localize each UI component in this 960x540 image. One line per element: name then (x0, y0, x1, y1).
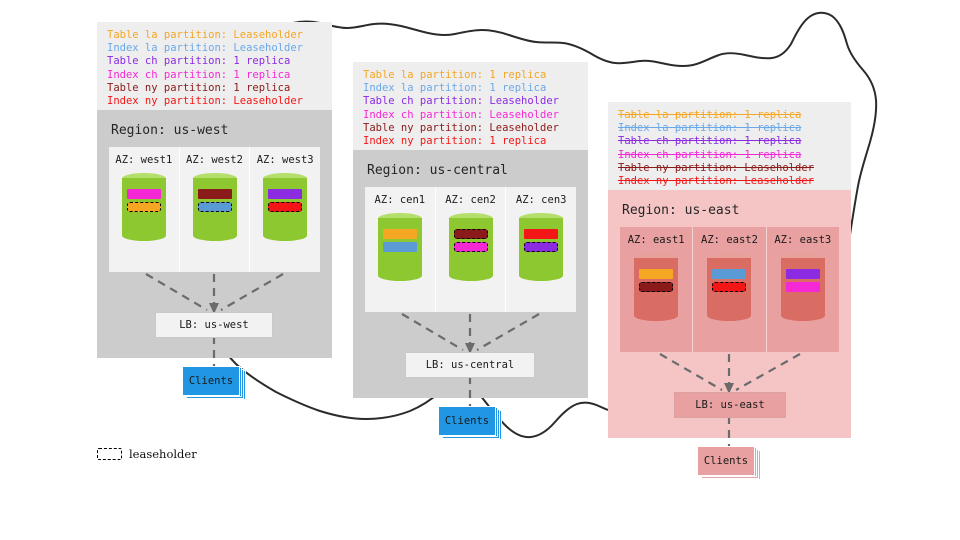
az-cell-west2[interactable]: AZ: west2 (179, 147, 250, 272)
replica-bars (524, 229, 558, 255)
info-line: Table ch partition: Leaseholder (363, 95, 578, 108)
info-line: Index la partition: 1 replica (363, 82, 578, 95)
az-cell-east2[interactable]: AZ: east2 (692, 227, 765, 352)
info-line: Index ch partition: Leaseholder (363, 109, 578, 122)
region-title: Region: us-west (97, 110, 332, 147)
legend: leaseholder (97, 447, 197, 461)
az-label: AZ: cen1 (375, 194, 426, 206)
replica-bar-leaseholder (454, 242, 488, 252)
az-row-us-west: AZ: west1 AZ: west2 (109, 147, 320, 272)
replica-bar (383, 242, 417, 252)
db-node-east2[interactable] (707, 253, 751, 321)
info-line: Table la partition: 1 replica (618, 109, 841, 122)
info-line: Index la partition: 1 replica (618, 122, 841, 135)
diagram-canvas: Table la partition: Leaseholder Index la… (0, 0, 960, 540)
dashed-rect-icon (97, 448, 122, 460)
lb-label: LB: us-central (426, 359, 515, 371)
info-line: Table ny partition: Leaseholder (363, 122, 578, 135)
info-line: Index ny partition: 1 replica (363, 135, 578, 148)
az-label: AZ: west3 (257, 154, 314, 166)
db-node-west2[interactable] (193, 173, 237, 241)
clients-us-west[interactable]: Clients (182, 366, 246, 400)
replica-bars (383, 229, 417, 255)
region-block-us-west: Table la partition: Leaseholder Index la… (97, 22, 332, 358)
replica-bar-leaseholder (712, 282, 746, 292)
replica-bar (712, 269, 746, 279)
info-line: Table ch partition: 1 replica (618, 135, 841, 148)
partition-info-panel-us-east: Table la partition: 1 replica Index la p… (608, 102, 851, 190)
clients-label-box: Clients (182, 366, 240, 396)
info-line: Index ch partition: 1 replica (107, 69, 322, 82)
az-cell-east3[interactable]: AZ: east3 (766, 227, 839, 352)
replica-bar-leaseholder (268, 202, 302, 212)
replica-bars (786, 269, 820, 295)
region-block-us-central: Table la partition: 1 replica Index la p… (353, 62, 588, 398)
db-node-cen3[interactable] (519, 213, 563, 281)
az-cell-west1[interactable]: AZ: west1 (109, 147, 179, 272)
db-node-east1[interactable] (634, 253, 678, 321)
replica-bar (786, 269, 820, 279)
az-cell-cen3[interactable]: AZ: cen3 (505, 187, 576, 312)
legend-label: leaseholder (129, 447, 197, 461)
az-label: AZ: cen2 (445, 194, 496, 206)
replica-bar-leaseholder (454, 229, 488, 239)
replica-bar (786, 282, 820, 292)
az-cell-west3[interactable]: AZ: west3 (249, 147, 320, 272)
info-line: Index la partition: Leaseholder (107, 42, 322, 55)
region-block-us-east: Table la partition: 1 replica Index la p… (608, 102, 851, 438)
load-balancer-us-east[interactable]: LB: us-east (674, 392, 786, 418)
region-title: Region: us-east (608, 190, 851, 227)
info-line: Index ny partition: Leaseholder (107, 95, 322, 108)
replica-bar (127, 189, 161, 199)
az-label: AZ: east3 (774, 234, 831, 246)
clients-label: Clients (189, 375, 233, 387)
az-label: AZ: cen3 (516, 194, 567, 206)
info-line: Table ny partition: 1 replica (107, 82, 322, 95)
region-panel-us-west: Region: us-west AZ: west1 (97, 110, 332, 358)
replica-bar-leaseholder (198, 202, 232, 212)
partition-info-panel-us-west: Table la partition: Leaseholder Index la… (97, 22, 332, 110)
replica-bar-leaseholder (127, 202, 161, 212)
db-node-cen2[interactable] (449, 213, 493, 281)
replica-bars (639, 269, 673, 295)
info-line: Table la partition: Leaseholder (107, 29, 322, 42)
replica-bars (454, 229, 488, 255)
load-balancer-us-west[interactable]: LB: us-west (155, 312, 273, 338)
info-line: Table ch partition: 1 replica (107, 55, 322, 68)
replica-bars (198, 189, 232, 215)
replica-bar (639, 269, 673, 279)
region-panel-us-central: Region: us-central AZ: cen1 (353, 150, 588, 398)
replica-bars (268, 189, 302, 215)
az-label: AZ: west2 (186, 154, 243, 166)
db-node-east3[interactable] (781, 253, 825, 321)
info-line: Index ny partition: Leaseholder (618, 175, 841, 188)
clients-us-east[interactable]: Clients (697, 446, 761, 480)
info-line: Table ny partition: Leaseholder (618, 162, 841, 175)
replica-bar (383, 229, 417, 239)
az-cell-cen2[interactable]: AZ: cen2 (435, 187, 506, 312)
load-balancer-us-central[interactable]: LB: us-central (405, 352, 535, 378)
replica-bars (712, 269, 746, 295)
az-cell-cen1[interactable]: AZ: cen1 (365, 187, 435, 312)
az-label: AZ: east1 (628, 234, 685, 246)
db-node-cen1[interactable] (378, 213, 422, 281)
clients-label: Clients (445, 415, 489, 427)
clients-us-central[interactable]: Clients (438, 406, 502, 440)
clients-label-box: Clients (438, 406, 496, 436)
replica-bar (268, 189, 302, 199)
az-row-us-central: AZ: cen1 AZ: cen2 (365, 187, 576, 312)
clients-label-box: Clients (697, 446, 755, 476)
replica-bar (524, 229, 558, 239)
replica-bar-leaseholder (639, 282, 673, 292)
az-label: AZ: west1 (115, 154, 172, 166)
lb-label: LB: us-west (179, 319, 249, 331)
info-line: Index ch partition: 1 replica (618, 149, 841, 162)
region-title: Region: us-central (353, 150, 588, 187)
clients-label: Clients (704, 455, 748, 467)
partition-info-panel-us-central: Table la partition: 1 replica Index la p… (353, 62, 588, 150)
az-row-us-east: AZ: east1 AZ: east2 (620, 227, 839, 352)
region-panel-us-east: Region: us-east AZ: east1 (608, 190, 851, 438)
az-cell-east1[interactable]: AZ: east1 (620, 227, 692, 352)
info-line: Table la partition: 1 replica (363, 69, 578, 82)
replica-bars (127, 189, 161, 215)
replica-bar-leaseholder (524, 242, 558, 252)
az-label: AZ: east2 (701, 234, 758, 246)
replica-bar (198, 189, 232, 199)
db-node-west1[interactable] (122, 173, 166, 241)
lb-label: LB: us-east (695, 399, 765, 411)
db-node-west3[interactable] (263, 173, 307, 241)
